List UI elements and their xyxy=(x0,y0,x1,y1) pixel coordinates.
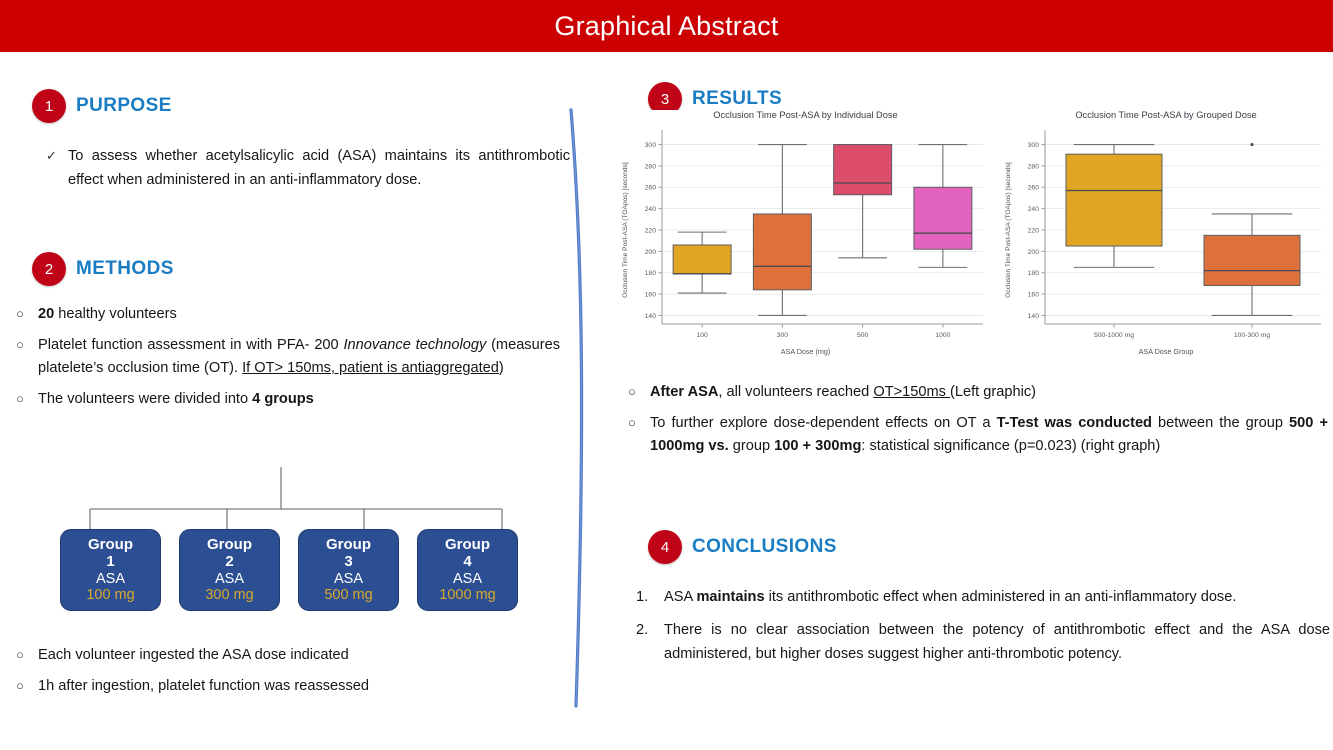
bullet-marker: ✓ xyxy=(46,145,57,166)
conclusions-title: CONCLUSIONS xyxy=(692,536,837,558)
svg-text:260: 260 xyxy=(1028,185,1040,192)
graphical-abstract-page: Graphical Abstract 1 PURPOSE ✓To assess … xyxy=(0,0,1333,750)
group-drug: ASA xyxy=(215,571,244,588)
list-item: 2.There is no clear association between … xyxy=(630,618,1330,667)
list-item: ○The volunteers were divided into 4 grou… xyxy=(12,388,560,412)
conclusions-badge: 4 xyxy=(648,530,682,564)
svg-text:240: 240 xyxy=(645,206,657,213)
group-dose: 1000 mg xyxy=(439,587,495,604)
group-dose: 300 mg xyxy=(205,587,253,604)
chart-grouped-dose: Occlusion Time Post-ASA by Grouped Dose … xyxy=(1001,110,1331,356)
svg-text:300: 300 xyxy=(645,142,657,149)
group-number: 4 xyxy=(463,553,471,570)
svg-text:Occlusion Time Post-ASA (TOApo: Occlusion Time Post-ASA (TOApos) [second… xyxy=(622,162,629,298)
group-drug: ASA xyxy=(96,571,125,588)
charts-row: Occlusion Time Post-ASA by Individual Do… xyxy=(618,110,1331,356)
bullet-marker: ○ xyxy=(628,381,636,402)
results-bullet-list: ○After ASA, all volunteers reached OT>15… xyxy=(624,381,1328,466)
bullet-marker: ○ xyxy=(16,675,24,696)
list-item: ○Each volunteer ingested the ASA dose in… xyxy=(12,644,560,668)
list-item: ○20 healthy volunteers xyxy=(12,303,560,327)
list-item: 1.ASA maintains its antithrombotic effec… xyxy=(630,585,1330,610)
list-number: 1. xyxy=(636,585,648,610)
svg-text:140: 140 xyxy=(645,313,657,320)
list-item: ○After ASA, all volunteers reached OT>15… xyxy=(624,381,1328,405)
list-item: ○Platelet function assessment in with PF… xyxy=(12,334,560,381)
right-column: 3 RESULTS Occlusion Time Post-ASA by Ind… xyxy=(612,52,1333,750)
chart-individual-dose-plot: 140160180200220240260280300Occlusion Tim… xyxy=(618,120,993,348)
svg-text:180: 180 xyxy=(1028,270,1040,277)
methods-section: 2 METHODS ○20 healthy volunteers○Platele… xyxy=(32,252,560,419)
group-dose: 100 mg xyxy=(86,587,134,604)
svg-text:140: 140 xyxy=(1028,313,1040,320)
group-number: 2 xyxy=(225,553,233,570)
group-number: 1 xyxy=(106,553,114,570)
bullet-marker: ○ xyxy=(628,412,636,433)
svg-text:300: 300 xyxy=(777,332,789,339)
group-dose: 500 mg xyxy=(324,587,372,604)
conclusions-list: 1.ASA maintains its antithrombotic effec… xyxy=(630,585,1330,675)
svg-text:500-1000 mg: 500-1000 mg xyxy=(1094,332,1134,339)
group-label: Group xyxy=(88,536,133,553)
list-number: 2. xyxy=(636,618,648,643)
methods-heading: 2 METHODS xyxy=(32,252,560,286)
list-item: ○1h after ingestion, platelet function w… xyxy=(12,675,560,699)
chart-grouped-dose-xlabel: ASA Dose Group xyxy=(1001,347,1331,356)
svg-text:1000: 1000 xyxy=(935,332,950,339)
svg-text:200: 200 xyxy=(1028,249,1040,256)
group-drug: ASA xyxy=(453,571,482,588)
svg-text:100-300 mg: 100-300 mg xyxy=(1234,332,1270,339)
svg-text:280: 280 xyxy=(1028,163,1040,170)
results-title: RESULTS xyxy=(692,88,782,110)
group-box: Group3ASA500 mg xyxy=(298,529,399,611)
svg-text:Occlusion Time Post-ASA (TOApo: Occlusion Time Post-ASA (TOApos) [second… xyxy=(1005,162,1012,298)
group-box-row: Group1ASA100 mgGroup2ASA300 mgGroup3ASA5… xyxy=(60,529,518,611)
svg-text:240: 240 xyxy=(1028,206,1040,213)
page-title-bar: Graphical Abstract xyxy=(0,0,1333,52)
left-column: 1 PURPOSE ✓To assess whether acetylsalic… xyxy=(0,52,600,750)
svg-text:220: 220 xyxy=(1028,227,1040,234)
svg-text:200: 200 xyxy=(645,249,657,256)
list-item: ✓To assess whether acetylsalicylic acid … xyxy=(42,145,570,192)
page-title: Graphical Abstract xyxy=(554,11,778,42)
chart-individual-dose-xlabel: ASA Dose (mg) xyxy=(618,347,993,356)
group-label: Group xyxy=(207,536,252,553)
methods-bullet-list: ○20 healthy volunteers○Platelet function… xyxy=(12,303,560,412)
bullet-marker: ○ xyxy=(16,644,24,665)
group-drug: ASA xyxy=(334,571,363,588)
svg-text:500: 500 xyxy=(857,332,869,339)
chart-individual-dose-title: Occlusion Time Post-ASA by Individual Do… xyxy=(618,110,993,120)
list-item: ○To further explore dose-dependent effec… xyxy=(624,412,1328,459)
svg-text:100: 100 xyxy=(696,332,708,339)
group-box: Group2ASA300 mg xyxy=(179,529,280,611)
tree-wrapper: Group1ASA100 mgGroup2ASA300 mgGroup3ASA5… xyxy=(42,467,582,617)
svg-text:300: 300 xyxy=(1028,142,1040,149)
purpose-section: 1 PURPOSE ✓To assess whether acetylsalic… xyxy=(32,89,570,199)
conclusions-heading: 4 CONCLUSIONS xyxy=(648,530,837,564)
conclusions-section: 4 CONCLUSIONS xyxy=(648,530,837,564)
bullet-marker: ○ xyxy=(16,334,24,355)
bullet-marker: ○ xyxy=(16,303,24,324)
purpose-title: PURPOSE xyxy=(76,95,172,117)
svg-text:280: 280 xyxy=(645,163,657,170)
group-number: 3 xyxy=(344,553,352,570)
group-label: Group xyxy=(445,536,490,553)
svg-text:260: 260 xyxy=(645,185,657,192)
methods-title: METHODS xyxy=(76,258,174,280)
group-box: Group4ASA1000 mg xyxy=(417,529,518,611)
bullet-marker: ○ xyxy=(16,388,24,409)
group-tree-diagram: Group1ASA100 mgGroup2ASA300 mgGroup3ASA5… xyxy=(22,467,582,617)
chart-individual-dose: Occlusion Time Post-ASA by Individual Do… xyxy=(618,110,993,356)
purpose-heading: 1 PURPOSE xyxy=(32,89,570,123)
svg-text:180: 180 xyxy=(645,270,657,277)
svg-text:160: 160 xyxy=(1028,291,1040,298)
svg-text:220: 220 xyxy=(645,227,657,234)
methods-badge: 2 xyxy=(32,252,66,286)
methods-trailing-bullet-list: ○Each volunteer ingested the ASA dose in… xyxy=(12,644,560,705)
purpose-bullet-list: ✓To assess whether acetylsalicylic acid … xyxy=(42,145,570,192)
chart-grouped-dose-plot: 140160180200220240260280300Occlusion Tim… xyxy=(1001,120,1331,348)
chart-grouped-dose-title: Occlusion Time Post-ASA by Grouped Dose xyxy=(1001,110,1331,120)
svg-text:160: 160 xyxy=(645,291,657,298)
group-box: Group1ASA100 mg xyxy=(60,529,161,611)
group-label: Group xyxy=(326,536,371,553)
purpose-badge: 1 xyxy=(32,89,66,123)
